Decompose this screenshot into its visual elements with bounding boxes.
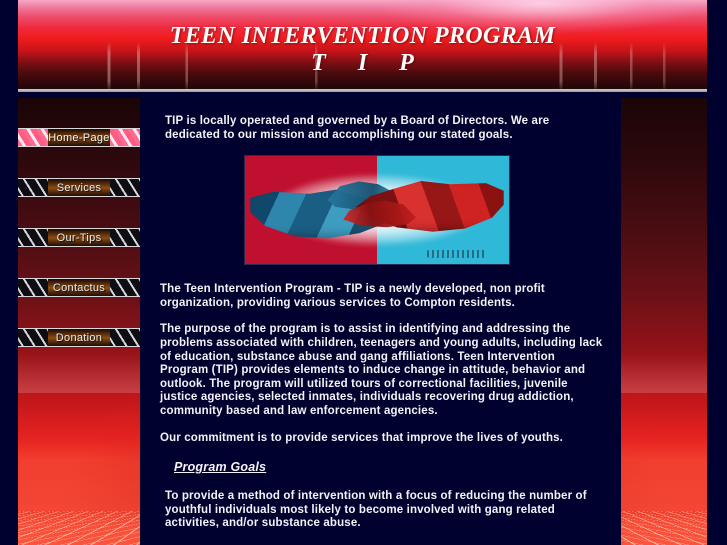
paragraph-commitment: Our commitment is to provide services th… (160, 432, 603, 446)
stripe-decoration-right-icon (110, 179, 140, 196)
stripe-decoration-right-icon (110, 279, 140, 296)
sidebar-item-contactus[interactable]: Contactus (18, 278, 140, 297)
stripe-decoration-right-icon (110, 129, 140, 146)
program-goals-heading: Program Goals (174, 460, 266, 474)
paragraph-goals: To provide a method of intervention with… (160, 490, 603, 531)
sidebar-item-services[interactable]: Services (18, 178, 140, 197)
right-gutter (707, 0, 727, 545)
stripe-decoration-left-icon (18, 329, 48, 346)
banner-divider (18, 89, 707, 92)
sidebar-nav: Home-Page Services Our-Tips Contactus Do… (18, 98, 140, 545)
stripe-decoration-left-icon (18, 179, 48, 196)
paragraph-purpose: The purpose of the program is to assist … (160, 323, 603, 418)
stripe-decoration-right-icon (110, 329, 140, 346)
sidebar-item-label: Home-Page (48, 132, 109, 144)
main-content-panel: TIP is locally operated and governed by … (140, 98, 621, 545)
sidebar-item-donation[interactable]: Donation (18, 328, 140, 347)
page-title: TEEN INTERVENTION PROGRAM (18, 0, 707, 49)
sidebar-item-home-page[interactable]: Home-Page (18, 128, 140, 147)
page-title-acronym: T I P (18, 50, 707, 77)
stripe-decoration-left-icon (18, 129, 48, 146)
stripe-decoration-left-icon (18, 279, 48, 296)
stripe-decoration-right-icon (110, 229, 140, 246)
sidebar-item-label: Our-Tips (57, 232, 102, 244)
stripe-decoration-left-icon (18, 229, 48, 246)
sidebar-item-label: Contactus (53, 282, 105, 294)
sidebar-item-label: Services (57, 182, 102, 194)
left-gutter (0, 0, 18, 545)
artwork-signature (427, 250, 485, 258)
goals-heading-row: Program Goals (160, 458, 603, 490)
hands-artwork-image (244, 155, 510, 265)
artwork-canvas (245, 156, 509, 264)
intro-paragraph: TIP is locally operated and governed by … (160, 115, 603, 142)
paragraph-about: The Teen Intervention Program - TIP is a… (160, 283, 603, 310)
sidebar-item-our-tips[interactable]: Our-Tips (18, 228, 140, 247)
page-root: TEEN INTERVENTION PROGRAM T I P Home-Pag… (0, 0, 727, 545)
sidebar-item-label: Donation (56, 332, 102, 344)
header-banner: TEEN INTERVENTION PROGRAM T I P (18, 0, 707, 92)
